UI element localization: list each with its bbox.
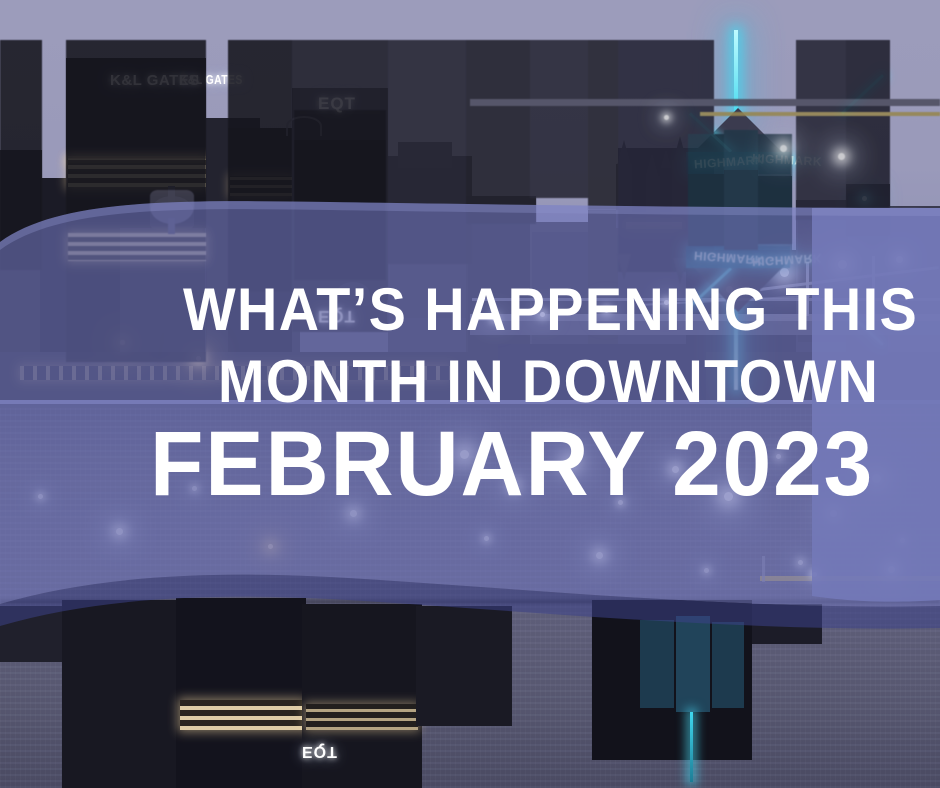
overlay-layer bbox=[0, 0, 940, 788]
promo-graphic: K&L GATES K&L GATES EQT bbox=[0, 0, 940, 788]
overlay-main-body bbox=[0, 201, 940, 606]
overlay-solid-right-patch bbox=[812, 208, 940, 602]
overlay-banner-shape bbox=[0, 0, 940, 788]
